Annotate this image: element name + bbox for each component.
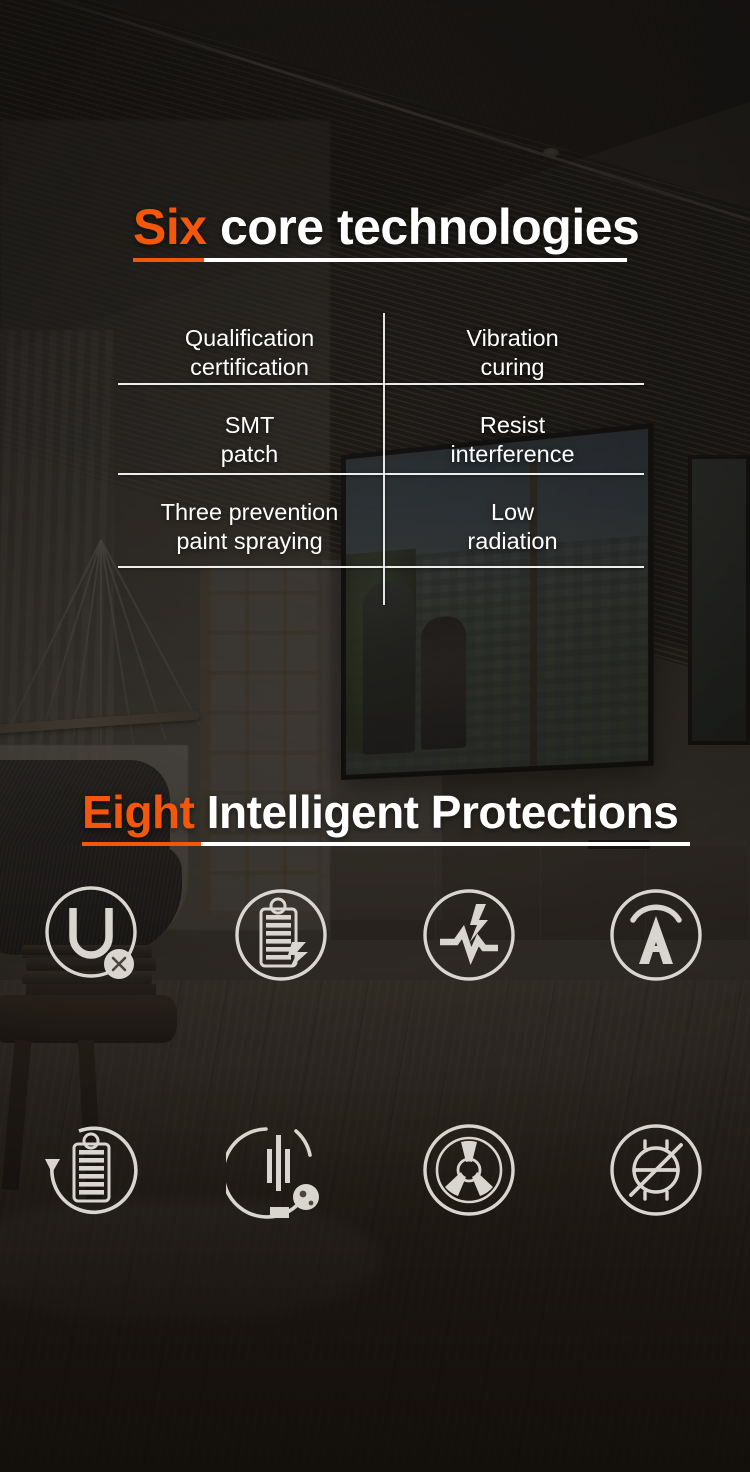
tech-label-line2: certification [190,354,309,380]
tech-label-line1: Qualification [185,325,314,351]
section-title-underline [82,842,690,846]
tech-label-line1: SMT [225,412,275,438]
page-title-accent: Six [133,199,207,255]
promo-page: Six core technologies Qualificationcerti… [0,0,750,1472]
content-layer: Six core technologies Qualificationcerti… [0,0,750,1472]
tech-label-line2: radiation [467,528,557,554]
tech-grid: Qualificationcertification Vibrationcuri… [118,310,644,570]
tech-cell-low-radiation: Lowradiation [381,483,644,570]
tech-grid-divider-1 [118,383,644,385]
tech-label-line2: interference [450,441,574,467]
tech-cell-smt-patch: SMTpatch [118,397,381,484]
radiation-protection-icon[interactable] [375,1115,563,1225]
tech-cell-resist-interference: Resistinterference [381,397,644,484]
underline-accent-segment [133,258,204,262]
underline-white-segment [201,842,690,846]
tech-grid-divider-2 [118,473,644,475]
protection-icon-row-1 [0,880,750,990]
battery-recovery-protection-icon[interactable] [0,1115,188,1225]
section-title-accent: Eight [82,786,194,838]
page-title-six-core-technologies: Six core technologies [133,198,639,256]
tech-label-line1: Low [491,499,534,525]
tech-label-line1: Three prevention [161,499,339,525]
tech-label-line2: curing [480,354,544,380]
protection-icon-row-2 [0,1115,750,1225]
section-title-rest: Intelligent Protections [194,786,678,838]
page-title-underline [133,258,627,262]
short-circuit-protection-icon[interactable] [563,1115,750,1225]
tech-label-line2: patch [221,441,279,467]
tech-label-line2: paint spraying [176,528,322,554]
underline-white-segment [204,258,627,262]
tech-cell-three-prevention-paint-spraying: Three preventionpaint spraying [118,483,381,570]
lightning-surge-protection-icon[interactable] [375,880,563,990]
protection-icon-grid [0,880,750,1225]
battery-surge-protection-icon[interactable] [188,880,376,990]
underline-accent-segment [82,842,201,846]
tech-label-line1: Resist [480,412,545,438]
page-title-rest: core technologies [207,199,640,255]
section-title-eight-intelligent-protections: Eight Intelligent Protections [82,785,678,839]
leakage-protection-icon[interactable] [188,1115,376,1225]
tech-label-line1: Vibration [466,325,558,351]
tech-grid-vertical-divider [383,313,385,605]
overcurrent-protection-icon[interactable] [563,880,750,990]
tech-grid-divider-3 [118,566,644,568]
voltage-protection-icon[interactable] [0,880,188,990]
